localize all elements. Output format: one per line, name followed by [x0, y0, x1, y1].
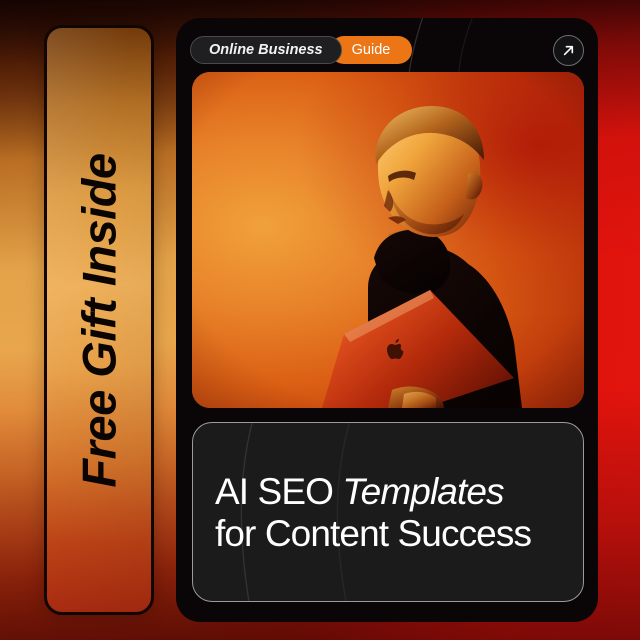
side-banner-free-gift: Free Gift Inside: [44, 25, 154, 615]
side-banner-label: Free Gift Inside: [76, 153, 123, 487]
card-topbar: Online Business Guide: [190, 30, 584, 70]
tag-pill-group: Online Business Guide: [190, 36, 412, 64]
arrow-up-right-icon: [561, 43, 576, 58]
headline-line-1-italic: Templates: [342, 471, 503, 512]
tag-pill-category[interactable]: Online Business: [190, 36, 342, 64]
hero-photo: [192, 72, 584, 408]
side-banner-text-wrap: Free Gift Inside: [47, 28, 151, 612]
headline-text-block: AI SEO Templates for Content Success: [215, 471, 569, 555]
headline-line-1: AI SEO Templates: [215, 471, 569, 513]
headline-card: AI SEO Templates for Content Success: [192, 422, 584, 602]
tag-pill-type[interactable]: Guide: [330, 36, 413, 64]
headline-line-2: for Content Success: [215, 513, 569, 555]
promo-card-panel: Online Business Guide: [176, 18, 598, 622]
poster-canvas: Free Gift Inside Online Business Guide: [0, 0, 640, 640]
external-link-button[interactable]: [553, 35, 584, 66]
hero-photo-vignette: [192, 72, 584, 408]
headline-line-1-plain: AI SEO: [215, 471, 342, 512]
